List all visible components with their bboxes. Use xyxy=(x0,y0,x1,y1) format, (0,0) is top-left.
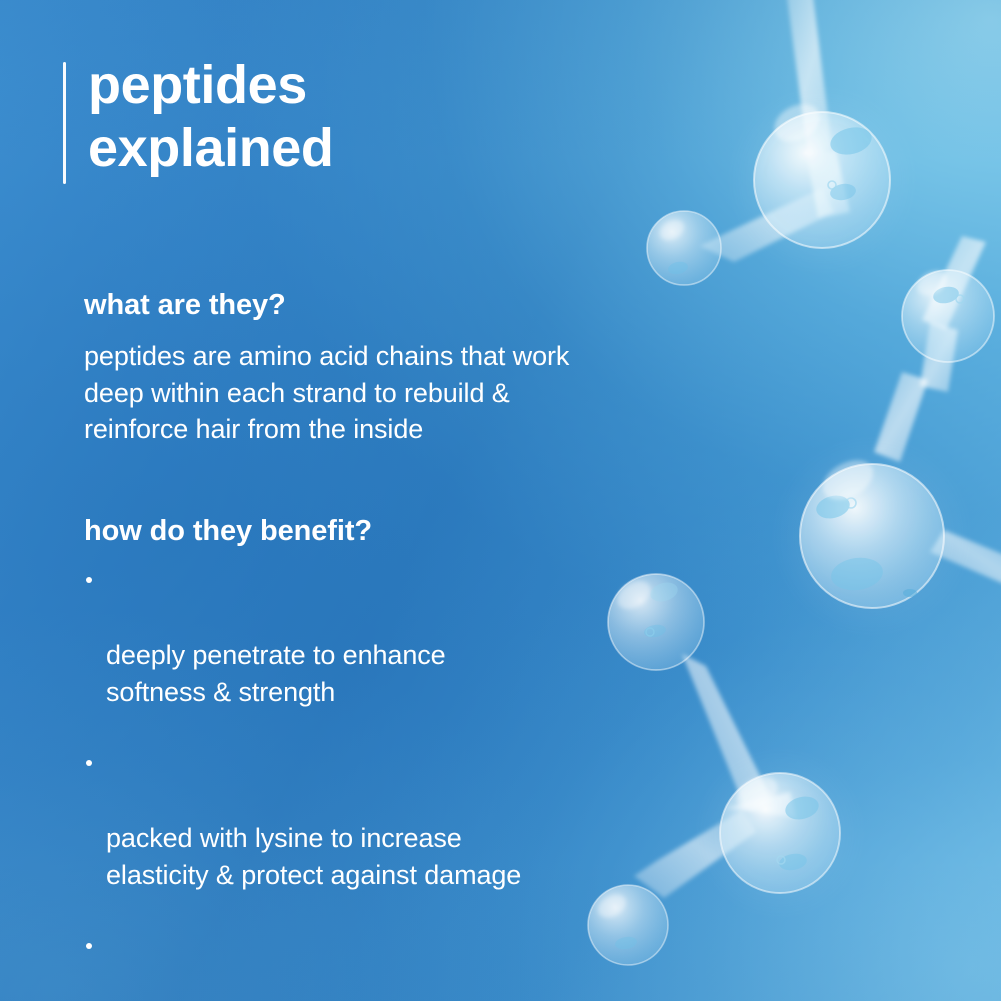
poster-content: peptides explained what are they? peptid… xyxy=(0,0,1001,1001)
peptides-explained-poster: peptides explained what are they? peptid… xyxy=(0,0,1001,1001)
page-title: peptides explained xyxy=(63,62,334,184)
section-how-do-they-benefit: how do they benefit? deeply penetrate to… xyxy=(84,515,521,1001)
bullet-dot-icon xyxy=(86,760,92,766)
list-item-label: deeply penetrate to enhance softness & s… xyxy=(106,640,446,707)
section-heading-how-do-they-benefit: how do they benefit? xyxy=(84,515,521,548)
list-item: deeply penetrate to enhance softness & s… xyxy=(84,564,521,711)
bullet-dot-icon xyxy=(86,577,92,583)
list-item: packed with lysine to increase elasticit… xyxy=(84,747,521,894)
list-item: leave hair feeling softer, smoother & ea… xyxy=(84,930,521,1001)
list-item-label: packed with lysine to increase elasticit… xyxy=(106,823,521,890)
title-accent-rule xyxy=(63,62,66,184)
section-heading-what-are-they: what are they? xyxy=(84,289,569,322)
section-body-what-are-they: peptides are amino acid chains that work… xyxy=(84,338,569,448)
bullet-dot-icon xyxy=(86,943,92,949)
page-title-text: peptides explained xyxy=(88,54,334,184)
benefit-bullet-list: deeply penetrate to enhance softness & s… xyxy=(84,564,521,1001)
section-what-are-they: what are they? peptides are amino acid c… xyxy=(84,289,569,448)
